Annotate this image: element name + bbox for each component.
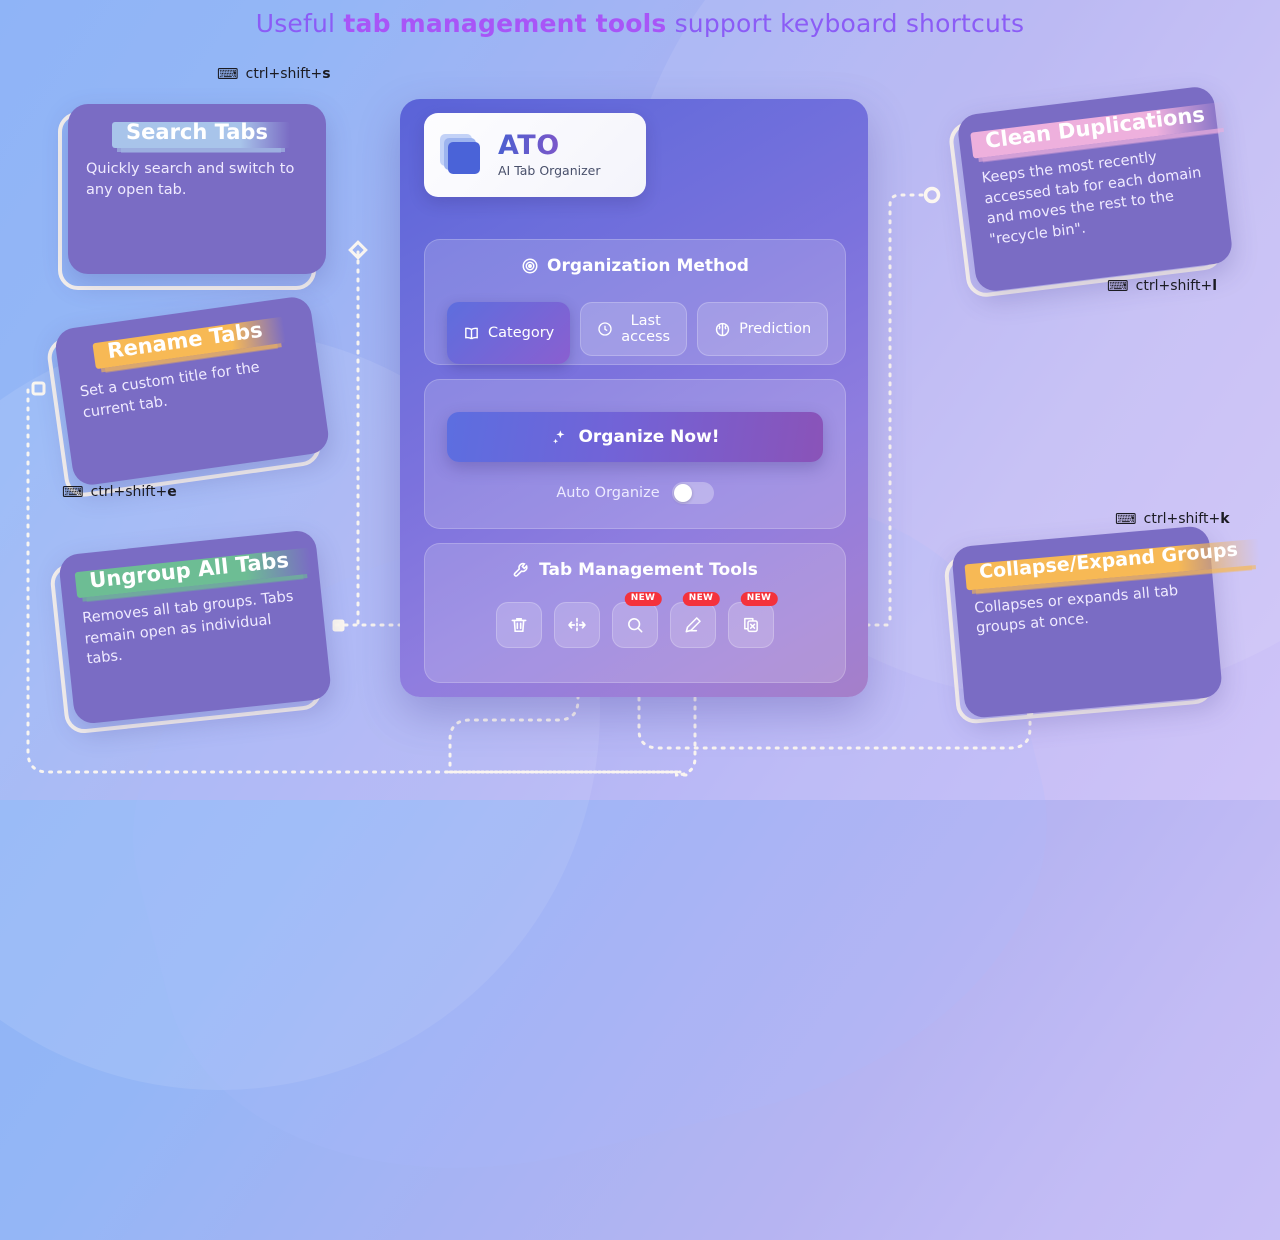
sparkle-icon: [550, 428, 569, 447]
note-body-search-tabs: Quickly search and switch to any open ta…: [86, 159, 308, 200]
clean-duplicates-new-badge: NEW: [741, 592, 778, 606]
delete-tool-button[interactable]: [496, 602, 542, 648]
auto-organize-label: Auto Organize: [556, 485, 659, 501]
copy-x-icon: [741, 615, 761, 635]
shortcut-collapse-expand: ⌨ ctrl+shift+k: [1115, 511, 1230, 527]
app-header: ATO AI Tab Organizer: [400, 99, 868, 211]
marker-clean-dup: [926, 189, 939, 202]
target-icon: [521, 257, 539, 275]
trash-icon: [509, 615, 529, 635]
toggle-knob: [674, 484, 692, 502]
keyboard-icon: ⌨: [62, 485, 84, 500]
method-option-last-access-label1: Last: [621, 313, 670, 329]
tab-management-tools-section: Tab Management Tools NEW: [424, 543, 846, 683]
marker-row-left: [333, 620, 344, 631]
search-icon: [625, 615, 645, 635]
tools-toolbar: NEW NEW NEW: [425, 602, 845, 648]
note-card-ungroup-all-tabs: Ungroup All Tabs Removes all tab groups.…: [58, 529, 332, 725]
auto-organize-toggle[interactable]: [672, 482, 714, 504]
search-tool-button[interactable]: NEW: [612, 602, 658, 648]
wire-clean-duplications: [890, 195, 922, 625]
note-card-collapse-expand-groups: Collapse/Expand Groups Collapses or expa…: [951, 525, 1223, 719]
brand-subtitle: AI Tab Organizer: [498, 163, 600, 178]
brain-icon: [714, 321, 731, 338]
shortcut-text-rename-tabs: ctrl+shift+e: [91, 484, 177, 500]
method-option-prediction[interactable]: Prediction: [697, 302, 828, 356]
method-option-last-access-label2: access: [621, 329, 670, 345]
shortcut-text-collapse-expand: ctrl+shift+k: [1144, 511, 1230, 527]
method-option-category[interactable]: Category: [447, 302, 570, 364]
search-tool-new-badge: NEW: [625, 592, 662, 606]
note-body-ungroup: Removes all tab groups. Tabs remain open…: [81, 586, 308, 671]
shortcut-text-search-tabs: ctrl+shift+s: [246, 66, 331, 82]
ungroup-tool-button[interactable]: [554, 602, 600, 648]
brand-name: ATO: [498, 132, 600, 159]
keyboard-icon: ⌨: [217, 67, 239, 82]
wrench-icon: [512, 561, 531, 580]
clock-icon: [597, 321, 613, 337]
keyboard-icon: ⌨: [1115, 512, 1137, 527]
shortcut-text-clean-duplications: ctrl+shift+l: [1136, 278, 1217, 294]
tab-management-tools-title-text: Tab Management Tools: [539, 560, 758, 580]
app-panel: ATO AI Tab Organizer Organization Method: [400, 99, 868, 697]
shortcut-search-tabs: ⌨ ctrl+shift+s: [217, 66, 331, 82]
brand-card: ATO AI Tab Organizer: [424, 113, 646, 197]
note-title-collapse-expand: Collapse/Expand Groups: [970, 536, 1247, 588]
organize-now-label: Organize Now!: [578, 427, 719, 447]
method-option-category-label: Category: [488, 325, 554, 341]
note-card-search-tabs: Search Tabs Quickly search and switch to…: [68, 104, 326, 274]
rename-tool-new-badge: NEW: [683, 592, 720, 606]
method-option-prediction-label: Prediction: [739, 321, 811, 337]
tab-management-tools-title: Tab Management Tools: [425, 560, 845, 580]
organization-method-options: Category Last access Prediction: [447, 302, 828, 364]
organization-method-title: Organization Method: [425, 256, 845, 276]
pencil-icon: [683, 615, 703, 635]
organization-method-title-text: Organization Method: [547, 256, 749, 276]
method-option-last-access[interactable]: Last access: [580, 302, 687, 356]
note-body-clean-duplications: Keeps the most recently accessed tab for…: [981, 142, 1211, 251]
rename-tool-button[interactable]: NEW: [670, 602, 716, 648]
stacked-tabs-icon: [440, 132, 486, 178]
note-body-collapse-expand: Collapses or expands all tab groups at o…: [974, 579, 1199, 639]
marker-rename-left: [33, 383, 44, 394]
ungroup-icon: [566, 614, 588, 636]
organization-method-section: Organization Method Category Last access: [424, 239, 846, 365]
organize-now-button[interactable]: Organize Now!: [447, 412, 823, 462]
clean-duplicates-tool-button[interactable]: NEW: [728, 602, 774, 648]
book-icon: [463, 325, 480, 342]
keyboard-icon: ⌨: [1107, 279, 1129, 294]
note-card-clean-duplications: Clean Duplications Keeps the most recent…: [956, 85, 1234, 293]
note-title-text-search-tabs: Search Tabs: [126, 120, 268, 144]
auto-organize-row: Auto Organize: [425, 482, 845, 504]
shortcut-rename-tabs: ⌨ ctrl+shift+e: [62, 484, 177, 500]
action-section: Organize Now! Auto Organize: [424, 379, 846, 529]
note-title-search-tabs: Search Tabs: [118, 118, 276, 148]
shortcut-clean-duplications: ⌨ ctrl+shift+l: [1107, 278, 1217, 294]
